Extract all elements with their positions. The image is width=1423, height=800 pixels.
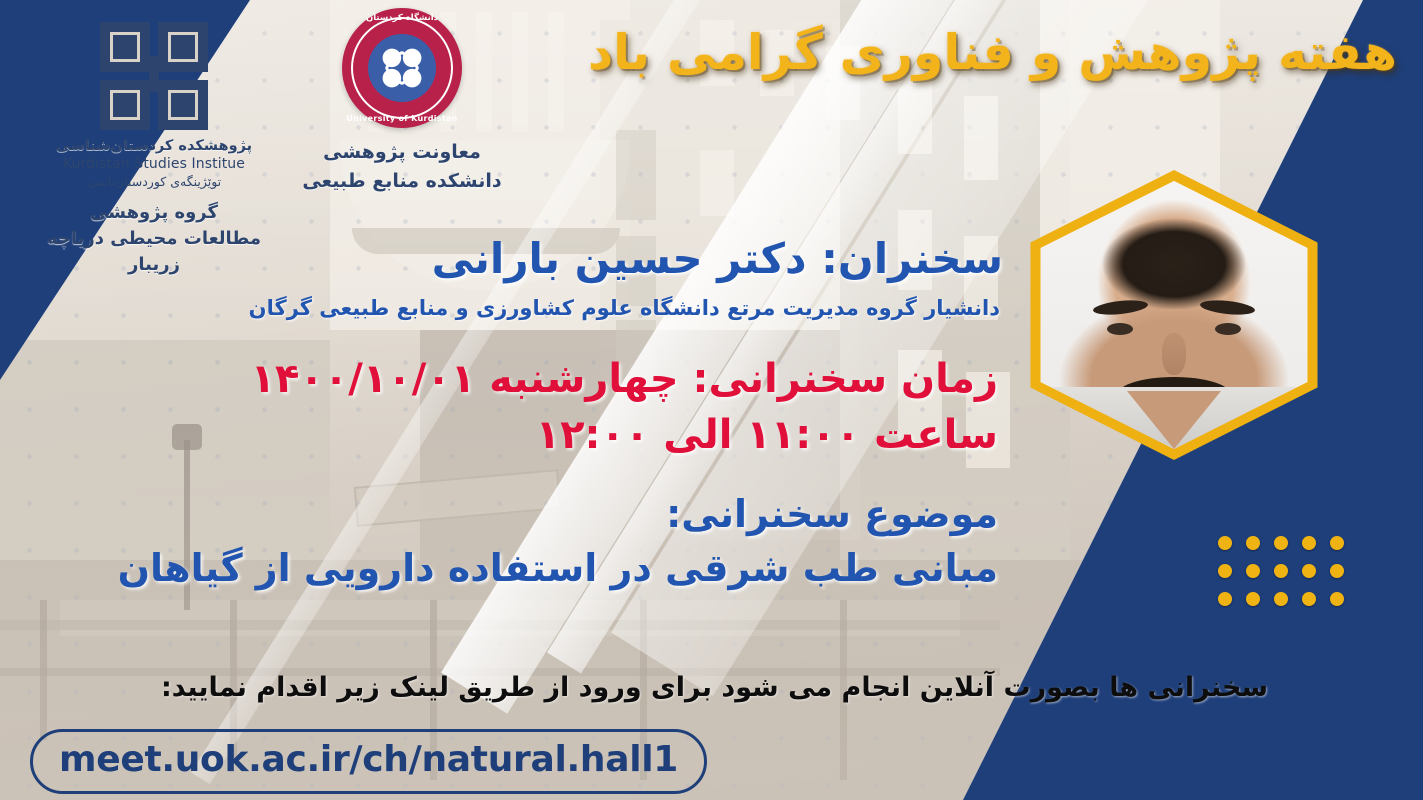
seal-emblem-icon <box>368 34 436 102</box>
research-group-line-1: گروه پژوهشی <box>18 200 290 226</box>
topic-body: مبانی طب شرقی در استفاده دارویی از گیاها… <box>118 546 998 590</box>
university-of-kurdistan-seal: دانشگاه کردستان University of Kurdistan <box>342 8 462 128</box>
institute-name-ku: توێژینگەی کوردستان‌ناسی <box>18 173 290 191</box>
speaker-name: سخنران: دکتر حسین بارانی <box>432 234 1003 283</box>
deputy-line-2: دانشکده منابع طبیعی <box>272 167 532 196</box>
speaker-portrait <box>1018 170 1330 460</box>
meeting-link[interactable]: meet.uok.ac.ir/ch/natural.hall1 <box>30 729 707 794</box>
deputy-line-1: معاونت پژوهشی <box>272 138 532 167</box>
institute-name-fa: پژوهشکده کردستان‌شناسی <box>18 137 290 155</box>
research-group-line-2: مطالعات محیطی دریاچه زریبار <box>18 226 290 278</box>
schedule-time: ساعت ۱۱:۰۰ الی ۱۲:۰۰ <box>536 412 998 458</box>
topic-label: موضوع سخنرانی: <box>666 492 998 536</box>
poster-headline: هفته پژوهش و فناوری گرامی باد <box>588 24 1397 81</box>
decorative-dot-grid <box>1218 536 1344 606</box>
seminar-poster: پژوهشکده کردستان‌شناسی Kurdistan Studies… <box>0 0 1423 800</box>
kurdistan-studies-institute-mark <box>100 22 208 130</box>
institute-name-en: Kurdistan Studies Institue <box>18 155 290 173</box>
institute-logo-block: پژوهشکده کردستان‌شناسی Kurdistan Studies… <box>18 22 290 278</box>
university-seal-block: دانشگاه کردستان University of Kurdistan … <box>272 8 532 195</box>
portrait-image <box>1029 181 1319 449</box>
schedule-date: زمان سخنرانی: چهارشنبه ۱۴۰۰/۱۰/۰۱ <box>251 356 998 402</box>
online-instructions: سخنرانی ها بصورت آنلاین انجام می شود برا… <box>161 672 1268 703</box>
speaker-affiliation: دانشیار گروه مدیریت مرتع دانشگاه علوم کش… <box>249 296 1000 320</box>
